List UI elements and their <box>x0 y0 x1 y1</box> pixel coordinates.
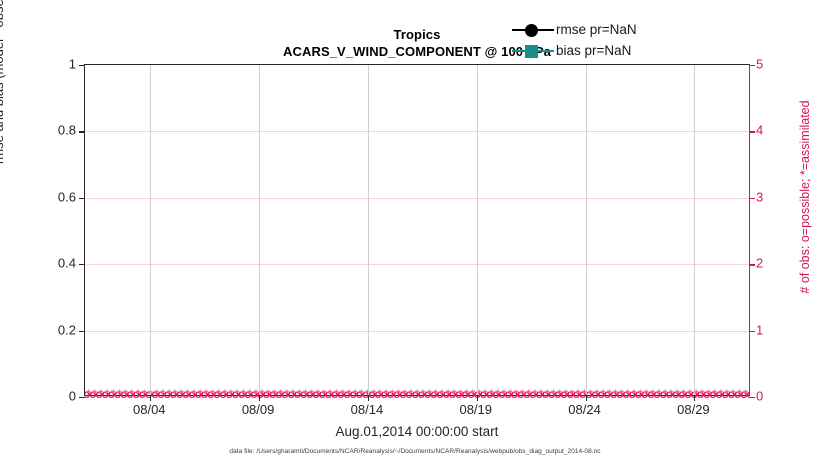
gridline-vertical <box>694 65 695 395</box>
obs-assimilated-marker: * <box>464 387 469 402</box>
obs-possible-marker: o <box>480 387 487 402</box>
obs-possible-marker: o <box>467 387 474 402</box>
obs-possible-marker: o <box>591 387 598 402</box>
y-axis-tick-left <box>79 65 85 66</box>
obs-assimilated-marker: * <box>731 387 736 402</box>
obs-assimilated-marker: * <box>706 387 711 402</box>
obs-possible-marker: o <box>461 387 468 402</box>
obs-assimilated-marker: * <box>669 387 674 402</box>
obs-assimilated-marker: * <box>520 387 525 402</box>
y-axis-tick-label-left: 0.6 <box>14 189 76 204</box>
obs-possible-marker: o <box>126 387 133 402</box>
obs-assimilated-marker: * <box>316 387 321 402</box>
obs-assimilated-marker: * <box>154 387 159 402</box>
obs-possible-marker: o <box>164 387 171 402</box>
x-axis-tick-label: 08/29 <box>653 402 733 417</box>
obs-possible-marker: o <box>213 387 220 402</box>
gridline-vertical <box>150 65 151 395</box>
obs-assimilated-marker: * <box>347 387 352 402</box>
obs-possible-marker: o <box>114 387 121 402</box>
obs-possible-marker: o <box>604 387 611 402</box>
obs-possible-marker: o <box>387 387 394 402</box>
y-axis-tick-label-left: 0.4 <box>14 256 76 271</box>
obs-possible-marker: o <box>641 387 648 402</box>
obs-possible-marker: o <box>443 387 450 402</box>
gridline-horizontal <box>85 331 749 332</box>
obs-assimilated-marker: * <box>229 387 234 402</box>
obs-possible-marker: o <box>195 387 202 402</box>
obs-possible-marker: o <box>257 387 264 402</box>
obs-assimilated-marker: * <box>700 387 705 402</box>
obs-assimilated-marker: * <box>254 387 259 402</box>
obs-possible-marker: o <box>281 387 288 402</box>
obs-assimilated-marker: * <box>681 387 686 402</box>
obs-possible-marker: o <box>697 387 704 402</box>
obs-assimilated-marker: * <box>613 387 618 402</box>
obs-assimilated-marker: * <box>303 387 308 402</box>
circle-marker-icon <box>525 24 538 37</box>
x-axis-tick <box>150 395 151 401</box>
obs-assimilated-marker: * <box>266 387 271 402</box>
obs-possible-marker: o <box>226 387 233 402</box>
obs-possible-marker: o <box>232 387 239 402</box>
obs-possible-marker: o <box>201 387 208 402</box>
obs-possible-marker: o <box>176 387 183 402</box>
obs-possible-marker: o <box>635 387 642 402</box>
y-axis-tick-label-right: 1 <box>756 322 796 337</box>
obs-assimilated-marker: * <box>111 387 116 402</box>
obs-assimilated-marker: * <box>657 387 662 402</box>
obs-possible-marker: o <box>368 387 375 402</box>
obs-possible-marker: o <box>275 387 282 402</box>
obs-possible-marker: o <box>170 387 177 402</box>
obs-possible-marker: o <box>374 387 381 402</box>
obs-possible-marker: o <box>133 387 140 402</box>
x-axis-tick-label: 08/04 <box>109 402 189 417</box>
obs-assimilated-marker: * <box>216 387 221 402</box>
obs-possible-marker: o <box>548 387 555 402</box>
gridline-horizontal <box>85 198 749 199</box>
obs-possible-marker: o <box>672 387 679 402</box>
obs-possible-marker: o <box>244 387 251 402</box>
obs-assimilated-marker: * <box>483 387 488 402</box>
obs-possible-marker: o <box>331 387 338 402</box>
obs-marker-band: o*o*o*o*o*o*o*o*o*o*o*o*o*o*o*o*o*o*o*o*… <box>85 387 749 402</box>
obs-assimilated-marker: * <box>173 387 178 402</box>
obs-assimilated-marker: * <box>526 387 531 402</box>
obs-possible-marker: o <box>660 387 667 402</box>
plot-area: o*o*o*o*o*o*o*o*o*o*o*o*o*o*o*o*o*o*o*o*… <box>84 64 750 396</box>
obs-assimilated-marker: * <box>297 387 302 402</box>
obs-assimilated-marker: * <box>285 387 290 402</box>
obs-assimilated-marker: * <box>390 387 395 402</box>
obs-assimilated-marker: * <box>607 387 612 402</box>
obs-assimilated-marker: * <box>241 387 246 402</box>
obs-assimilated-marker: * <box>595 387 600 402</box>
y-axis-tick-right <box>749 65 755 66</box>
obs-possible-marker: o <box>436 387 443 402</box>
obs-possible-marker: o <box>573 387 580 402</box>
y-axis-label-right: # of obs: o=possible; *=assimilated <box>798 22 812 372</box>
obs-possible-marker: o <box>356 387 363 402</box>
obs-possible-marker: o <box>678 387 685 402</box>
obs-possible-marker: o <box>554 387 561 402</box>
x-axis-tick <box>259 395 260 401</box>
obs-assimilated-marker: * <box>142 387 147 402</box>
obs-assimilated-marker: * <box>402 387 407 402</box>
obs-assimilated-marker: * <box>588 387 593 402</box>
obs-assimilated-marker: * <box>359 387 364 402</box>
obs-possible-marker: o <box>567 387 574 402</box>
obs-assimilated-marker: * <box>130 387 135 402</box>
obs-assimilated-marker: * <box>446 387 451 402</box>
obs-possible-marker: o <box>610 387 617 402</box>
obs-possible-marker: o <box>449 387 456 402</box>
obs-possible-marker: o <box>616 387 623 402</box>
obs-assimilated-marker: * <box>117 387 122 402</box>
obs-possible-marker: o <box>306 387 313 402</box>
gridline-horizontal <box>85 264 749 265</box>
obs-possible-marker: o <box>405 387 412 402</box>
legend-sample <box>512 21 554 39</box>
obs-possible-marker: o <box>703 387 710 402</box>
y-axis-tick-right <box>749 131 755 132</box>
obs-possible-marker: o <box>418 387 425 402</box>
obs-assimilated-marker: * <box>663 387 668 402</box>
x-axis-tick-label: 08/24 <box>545 402 625 417</box>
obs-assimilated-marker: * <box>638 387 643 402</box>
obs-assimilated-marker: * <box>260 387 265 402</box>
y-axis-tick-right <box>749 397 755 398</box>
obs-assimilated-marker: * <box>322 387 327 402</box>
obs-possible-marker: o <box>598 387 605 402</box>
obs-possible-marker: o <box>381 387 388 402</box>
obs-possible-marker: o <box>102 387 109 402</box>
obs-assimilated-marker: * <box>502 387 507 402</box>
obs-assimilated-marker: * <box>421 387 426 402</box>
obs-possible-marker: o <box>219 387 226 402</box>
y-axis-tick-label-right: 4 <box>756 123 796 138</box>
x-axis-tick <box>694 395 695 401</box>
obs-assimilated-marker: * <box>415 387 420 402</box>
obs-assimilated-marker: * <box>675 387 680 402</box>
data-file-note: data file: /Users/gharamti/Documents/NCA… <box>0 448 830 455</box>
y-axis-tick-label-left: 0 <box>14 389 76 404</box>
obs-assimilated-marker: * <box>508 387 513 402</box>
obs-assimilated-marker: * <box>601 387 606 402</box>
legend-item[interactable]: bias pr=NaN <box>512 40 660 61</box>
obs-assimilated-marker: * <box>328 387 333 402</box>
obs-possible-marker: o <box>728 387 735 402</box>
obs-possible-marker: o <box>529 387 536 402</box>
obs-possible-marker: o <box>151 387 158 402</box>
obs-assimilated-marker: * <box>136 387 141 402</box>
obs-assimilated-marker: * <box>309 387 314 402</box>
obs-possible-marker: o <box>95 387 102 402</box>
y-axis-tick-label-right: 3 <box>756 189 796 204</box>
obs-assimilated-marker: * <box>192 387 197 402</box>
gridline-vertical <box>259 65 260 395</box>
y-axis-tick-label-right: 2 <box>756 256 796 271</box>
x-axis-tick-label: 08/14 <box>327 402 407 417</box>
obs-assimilated-marker: * <box>378 387 383 402</box>
obs-assimilated-marker: * <box>743 387 748 402</box>
obs-assimilated-marker: * <box>235 387 240 402</box>
obs-assimilated-marker: * <box>737 387 742 402</box>
x-axis-tick <box>477 395 478 401</box>
chart-legend: rmse pr=NaNbias pr=NaN <box>512 19 660 61</box>
obs-assimilated-marker: * <box>427 387 432 402</box>
obs-possible-marker: o <box>312 387 319 402</box>
obs-possible-marker: o <box>424 387 431 402</box>
legend-label: bias pr=NaN <box>554 43 631 58</box>
obs-assimilated-marker: * <box>688 387 693 402</box>
obs-assimilated-marker: * <box>396 387 401 402</box>
obs-possible-marker: o <box>430 387 437 402</box>
obs-possible-marker: o <box>666 387 673 402</box>
obs-possible-marker: o <box>740 387 747 402</box>
obs-possible-marker: o <box>188 387 195 402</box>
obs-assimilated-marker: * <box>489 387 494 402</box>
obs-assimilated-marker: * <box>644 387 649 402</box>
obs-assimilated-marker: * <box>570 387 575 402</box>
obs-assimilated-marker: * <box>210 387 215 402</box>
obs-possible-marker: o <box>139 387 146 402</box>
gridline-vertical <box>477 65 478 395</box>
obs-assimilated-marker: * <box>495 387 500 402</box>
obs-assimilated-marker: * <box>167 387 172 402</box>
obs-assimilated-marker: * <box>632 387 637 402</box>
y-axis-tick-label-right: 5 <box>756 57 796 72</box>
obs-possible-marker: o <box>511 387 518 402</box>
obs-assimilated-marker: * <box>105 387 110 402</box>
obs-assimilated-marker: * <box>272 387 277 402</box>
obs-assimilated-marker: * <box>334 387 339 402</box>
obs-possible-marker: o <box>120 387 127 402</box>
obs-possible-marker: o <box>325 387 332 402</box>
obs-possible-marker: o <box>412 387 419 402</box>
obs-assimilated-marker: * <box>626 387 631 402</box>
obs-possible-marker: o <box>300 387 307 402</box>
obs-assimilated-marker: * <box>247 387 252 402</box>
obs-possible-marker: o <box>715 387 722 402</box>
obs-assimilated-marker: * <box>725 387 730 402</box>
obs-assimilated-marker: * <box>86 387 91 402</box>
obs-assimilated-marker: * <box>123 387 128 402</box>
obs-possible-marker: o <box>393 387 400 402</box>
obs-possible-marker: o <box>108 387 115 402</box>
obs-possible-marker: o <box>684 387 691 402</box>
obs-assimilated-marker: * <box>99 387 104 402</box>
obs-possible-marker: o <box>746 387 749 402</box>
obs-possible-marker: o <box>89 387 96 402</box>
square-marker-icon <box>525 45 538 58</box>
y-axis-tick-right <box>749 198 755 199</box>
x-axis-tick-label: 08/19 <box>436 402 516 417</box>
obs-possible-marker: o <box>182 387 189 402</box>
obs-possible-marker: o <box>486 387 493 402</box>
obs-assimilated-marker: * <box>291 387 296 402</box>
obs-possible-marker: o <box>288 387 295 402</box>
legend-item[interactable]: rmse pr=NaN <box>512 19 660 40</box>
obs-assimilated-marker: * <box>179 387 184 402</box>
obs-possible-marker: o <box>505 387 512 402</box>
y-axis-tick-label-left: 1 <box>14 57 76 72</box>
chart-figure: Tropics ACARS_V_WIND_COMPONENT @ 100 hPa… <box>0 0 830 470</box>
obs-assimilated-marker: * <box>161 387 166 402</box>
gridline-vertical <box>368 65 369 395</box>
obs-assimilated-marker: * <box>440 387 445 402</box>
obs-possible-marker: o <box>492 387 499 402</box>
obs-assimilated-marker: * <box>384 387 389 402</box>
obs-assimilated-marker: * <box>452 387 457 402</box>
obs-assimilated-marker: * <box>650 387 655 402</box>
obs-possible-marker: o <box>629 387 636 402</box>
y-axis-tick-label-right: 0 <box>756 389 796 404</box>
obs-possible-marker: o <box>622 387 629 402</box>
obs-assimilated-marker: * <box>458 387 463 402</box>
obs-possible-marker: o <box>343 387 350 402</box>
obs-assimilated-marker: * <box>353 387 358 402</box>
gridline-horizontal <box>85 131 749 132</box>
obs-assimilated-marker: * <box>92 387 97 402</box>
obs-assimilated-marker: * <box>471 387 476 402</box>
obs-possible-marker: o <box>157 387 164 402</box>
obs-possible-marker: o <box>536 387 543 402</box>
obs-possible-marker: o <box>319 387 326 402</box>
obs-assimilated-marker: * <box>409 387 414 402</box>
x-axis-tick <box>586 395 587 401</box>
obs-assimilated-marker: * <box>204 387 209 402</box>
obs-assimilated-marker: * <box>198 387 203 402</box>
obs-possible-marker: o <box>542 387 549 402</box>
obs-assimilated-marker: * <box>223 387 228 402</box>
obs-possible-marker: o <box>523 387 530 402</box>
x-axis-tick <box>368 395 369 401</box>
obs-possible-marker: o <box>250 387 257 402</box>
obs-possible-marker: o <box>709 387 716 402</box>
legend-label: rmse pr=NaN <box>554 22 637 37</box>
obs-possible-marker: o <box>269 387 276 402</box>
obs-possible-marker: o <box>455 387 462 402</box>
obs-possible-marker: o <box>337 387 344 402</box>
obs-possible-marker: o <box>207 387 214 402</box>
x-axis-label: Aug.01,2014 00:00:00 start <box>84 424 750 439</box>
obs-assimilated-marker: * <box>278 387 283 402</box>
obs-possible-marker: o <box>722 387 729 402</box>
obs-assimilated-marker: * <box>545 387 550 402</box>
obs-possible-marker: o <box>350 387 357 402</box>
obs-possible-marker: o <box>647 387 654 402</box>
obs-possible-marker: o <box>517 387 524 402</box>
obs-possible-marker: o <box>263 387 270 402</box>
obs-assimilated-marker: * <box>557 387 562 402</box>
obs-assimilated-marker: * <box>539 387 544 402</box>
obs-possible-marker: o <box>653 387 660 402</box>
obs-possible-marker: o <box>560 387 567 402</box>
obs-assimilated-marker: * <box>371 387 376 402</box>
obs-assimilated-marker: * <box>564 387 569 402</box>
obs-assimilated-marker: * <box>340 387 345 402</box>
obs-assimilated-marker: * <box>533 387 538 402</box>
obs-assimilated-marker: * <box>576 387 581 402</box>
x-axis-tick-label: 08/09 <box>218 402 298 417</box>
obs-possible-marker: o <box>85 387 90 402</box>
gridline-vertical <box>586 65 587 395</box>
y-axis-tick-label-left: 0.8 <box>14 123 76 138</box>
obs-possible-marker: o <box>294 387 301 402</box>
y-axis-tick-right <box>749 264 755 265</box>
y-axis-tick-left <box>79 397 85 398</box>
obs-assimilated-marker: * <box>514 387 519 402</box>
obs-assimilated-marker: * <box>712 387 717 402</box>
obs-possible-marker: o <box>238 387 245 402</box>
obs-assimilated-marker: * <box>719 387 724 402</box>
y-axis-tick-right <box>749 331 755 332</box>
obs-possible-marker: o <box>498 387 505 402</box>
obs-assimilated-marker: * <box>433 387 438 402</box>
obs-possible-marker: o <box>734 387 741 402</box>
obs-assimilated-marker: * <box>551 387 556 402</box>
legend-sample <box>512 42 554 60</box>
y-axis-label-left: rmse and bias (model - observation) <box>0 0 6 230</box>
obs-possible-marker: o <box>399 387 406 402</box>
obs-assimilated-marker: * <box>619 387 624 402</box>
obs-assimilated-marker: * <box>185 387 190 402</box>
y-axis-tick-label-left: 0.2 <box>14 322 76 337</box>
